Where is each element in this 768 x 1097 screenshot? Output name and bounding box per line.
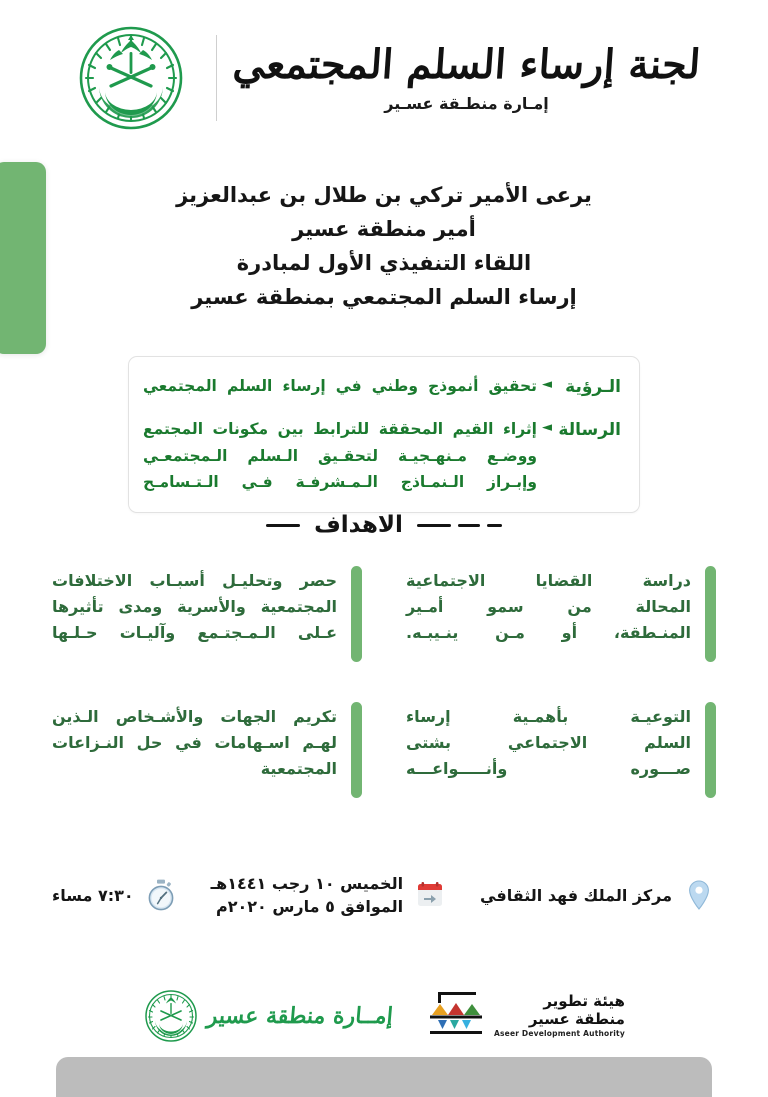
mission-text-line-3: وإبـراز الـنمـاذج الـمـشرفـة فـي الـتـسا… [143, 469, 537, 496]
stopwatch-icon [144, 878, 178, 912]
event-date: الخميس ١٠ رجب ١٤٤١هـ الموافق ٥ مارس ٢٠٢٠… [211, 872, 447, 918]
goal-item: دراسة القضايا الاجتماعية المحالة من سمو … [406, 566, 716, 684]
ada-english-name: Aseer Development Authority [494, 1030, 625, 1039]
aseer-mountains-icon [427, 990, 485, 1042]
event-venue: مركز الملك فهد الثقافي [480, 878, 716, 912]
goals-heading-dashes-left [266, 524, 300, 527]
mission-text: إثراء القيم المحققة للترابط بين مكونات ا… [143, 416, 537, 496]
location-pin-icon [682, 878, 716, 912]
vision-mission-box: الـرؤية ◄ تحقيق أنموذج وطني في إرساء الس… [128, 356, 640, 513]
patron-block: يرعى الأمير تركي بن طلال بن عبدالعزيز أم… [0, 178, 768, 314]
goal-line: المجتمعية والأسرية ومدى تأثيرها [52, 594, 337, 620]
header-divider [216, 35, 217, 121]
patron-line-1: يرعى الأمير تركي بن طلال بن عبدالعزيز [0, 178, 768, 212]
goal-text: التوعيـة بأهمـية إرساء السلم الاجتماعي ب… [406, 702, 691, 782]
event-date-gregorian: الموافق ٥ مارس ٢٠٢٠م [211, 895, 403, 918]
mission-row: الرسالة ◄ إثراء القيم المحققة للترابط بي… [143, 416, 621, 496]
goal-item: حصر وتحليـل أسبـاب الاختلافات المجتمعية … [52, 566, 362, 684]
committee-title: لجنة إرساء السلم المجتمعي [231, 43, 701, 88]
vision-label: الـرؤية [557, 373, 621, 402]
aseer-development-authority-logo: هيئة تطوير منطقة عسير Aseer Development … [427, 990, 625, 1042]
goals-heading-dashes-right [417, 524, 502, 527]
dash-long [417, 524, 451, 527]
ada-line-1: هيئة تطوير [494, 993, 625, 1011]
goal-text: دراسة القضايا الاجتماعية المحالة من سمو … [406, 566, 691, 646]
vision-bullet-icon: ◄ [537, 373, 557, 398]
goal-line: صـــوره وأنـــــواعـــه [406, 756, 691, 782]
goal-accent-bar [351, 566, 362, 662]
goal-line: المنـطقة، أو مـن ينـيبـه. [406, 620, 691, 646]
mission-bullet-icon: ◄ [537, 416, 557, 441]
emirate-script-text: إمــارة منطقة عسير [206, 1003, 394, 1029]
patron-line-4: إرساء السلم المجتمعي بمنطقة عسير [0, 280, 768, 314]
event-date-hijri: الخميس ١٠ رجب ١٤٤١هـ [211, 872, 403, 895]
goal-line: دراسة القضايا الاجتماعية [406, 568, 691, 594]
goal-line: التوعيـة بأهمـية إرساء [406, 704, 691, 730]
saudi-ministry-of-interior-emblem-icon [68, 20, 194, 136]
goals-section-heading: الاهداف [0, 512, 768, 538]
goal-text: تكريم الجهات والأشـخاص الـذين لهـم اسـها… [52, 702, 337, 782]
goal-line: السلم الاجتماعي بشتى [406, 730, 691, 756]
event-date-text: الخميس ١٠ رجب ١٤٤١هـ الموافق ٥ مارس ٢٠٢٠… [211, 872, 403, 918]
patron-line-2: أمير منطقة عسير [0, 212, 768, 246]
goal-item: تكريم الجهات والأشـخاص الـذين لهـم اسـها… [52, 702, 362, 820]
goal-line: المحالة من سمو أمـير [406, 594, 691, 620]
authority-subtitle: إمـارة منطـقة عسـير [384, 94, 549, 113]
vision-text-line-1: تحقيق أنموذج وطني في إرساء السلم المجتمع… [143, 373, 537, 400]
goals-heading-title: الاهداف [314, 512, 403, 538]
event-venue-text: مركز الملك فهد الثقافي [480, 884, 672, 907]
vision-text: تحقيق أنموذج وطني في إرساء السلم المجتمع… [143, 373, 537, 400]
goal-line: تكريم الجهات والأشـخاص الـذين [52, 704, 337, 730]
footer-logos: هيئة تطوير منطقة عسير Aseer Development … [0, 988, 768, 1044]
dash-long [266, 524, 300, 527]
bottom-gray-bar [56, 1057, 712, 1097]
goal-text: حصر وتحليـل أسبـاب الاختلافات المجتمعية … [52, 566, 337, 646]
goal-accent-bar [351, 702, 362, 798]
ada-line-2: منطقة عسير [494, 1011, 625, 1029]
calendar-icon [413, 878, 447, 912]
vision-row: الـرؤية ◄ تحقيق أنموذج وطني في إرساء الس… [143, 373, 621, 402]
header-title-group: لجنة إرساء السلم المجتمعي إمـارة منطـقة … [233, 43, 700, 113]
goal-line: لهـم اسـهامات في حل النـزاعات [52, 730, 337, 756]
dash-mid [458, 524, 480, 527]
goal-line: المجتمعية [52, 756, 337, 782]
goal-accent-bar [705, 566, 716, 662]
mission-label: الرسالة [557, 416, 621, 445]
event-info-bar: مركز الملك فهد الثقافي الخميس ١٠ رجب ١٤٤… [52, 872, 716, 918]
goals-grid: دراسة القضايا الاجتماعية المحالة من سمو … [52, 566, 716, 820]
goal-line: حصر وتحليـل أسبـاب الاختلافات [52, 568, 337, 594]
ada-wordmark: هيئة تطوير منطقة عسير Aseer Development … [494, 993, 625, 1039]
goal-accent-bar [705, 702, 716, 798]
saudi-ministry-of-interior-emblem-icon [143, 988, 199, 1044]
poster-header: لجنة إرساء السلم المجتمعي إمـارة منطـقة … [0, 18, 768, 138]
patron-line-3: اللقاء التنفيذي الأول لمبادرة [0, 246, 768, 280]
emirate-of-aseer-logo: إمــارة منطقة عسير [143, 988, 393, 1044]
mission-text-line-1: إثراء القيم المحققة للترابط بين مكونات ا… [143, 416, 537, 443]
goal-item: التوعيـة بأهمـية إرساء السلم الاجتماعي ب… [406, 702, 716, 820]
mission-text-line-2: ووضـع مـنهـجيـة لتحقـيق الـسلم الـمجتمعـ… [143, 443, 537, 470]
dash-short [487, 524, 502, 527]
goal-line: عـلى الـمـجتـمع وآليـات حـلـها [52, 620, 337, 646]
event-time: ٧:٣٠ مساء [52, 878, 178, 912]
event-time-text: ٧:٣٠ مساء [52, 884, 134, 907]
